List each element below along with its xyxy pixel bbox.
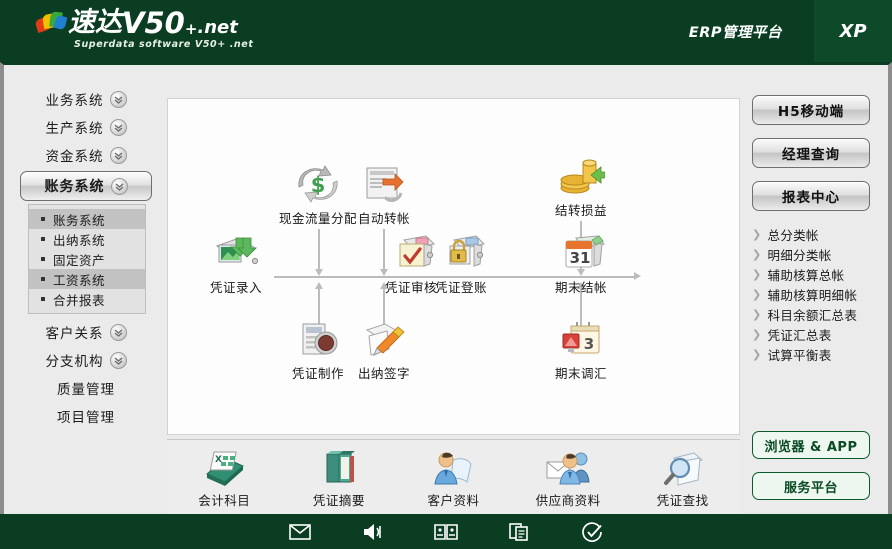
report-link-label: 辅助核算明细帐: [768, 285, 858, 304]
chevron-down-icon: [110, 119, 127, 136]
workflow-node-label: 期末结帐: [533, 277, 629, 296]
voucher-search-icon: [633, 446, 733, 488]
right-button-2[interactable]: 报表中心: [752, 181, 870, 211]
workflow-node-fx-adjust[interactable]: 3期末调汇: [533, 312, 629, 382]
green-button-group: 浏览器 & APP服务平台: [752, 418, 874, 500]
customer-data-icon: [403, 446, 503, 488]
chevron-right-icon: ❯: [752, 228, 762, 241]
workflow-node-label: 凭证登账: [413, 277, 509, 296]
report-link-1[interactable]: ❯明细分类帐: [752, 244, 874, 264]
mail-icon[interactable]: [288, 522, 312, 542]
logo-leaf-icon: [36, 10, 66, 34]
chevron-down-icon: [110, 324, 127, 341]
flow-arrowhead-down-1: [315, 269, 323, 276]
toolbar-item-label: 供应商资料: [518, 490, 618, 509]
toolbar-item-voucher-search[interactable]: 凭证查找: [633, 446, 733, 509]
chevron-right-icon: ❯: [752, 348, 762, 361]
report-link-label: 试算平衡表: [768, 345, 832, 364]
workflow-node-voucher-post[interactable]: 凭证登账: [413, 226, 509, 296]
sidebar-subitem-0[interactable]: 账务系统: [29, 209, 145, 229]
copy-icon[interactable]: [507, 522, 531, 542]
logo-version: V50: [122, 8, 185, 38]
sidebar-item-label: 生产系统: [46, 117, 104, 137]
toolbar-item-label: 会计科目: [174, 490, 274, 509]
bullet-icon: [41, 277, 45, 281]
sidebar-item-label: 项目管理: [57, 406, 115, 426]
xp-label: XP: [814, 21, 892, 42]
workflow-panel: $现金流量分配自动转帐结转损益凭证录入凭证审核凭证登账31期末结帐凭证制作出纳签…: [167, 98, 740, 435]
workflow-node-auto-transfer[interactable]: 自动转帐: [336, 157, 432, 227]
sidebar-item-1[interactable]: 生产系统: [20, 113, 152, 141]
report-link-5[interactable]: ❯凭证汇总表: [752, 324, 874, 344]
workflow-node-label: 自动转帐: [336, 208, 432, 227]
right-button-group: H5移动端经理查询报表中心: [752, 95, 874, 211]
voucher-post-icon: [413, 226, 509, 274]
sidebar-subitem-label: 工资系统: [53, 270, 105, 289]
report-link-0[interactable]: ❯总分类帐: [752, 224, 874, 244]
flow-arrowhead-right: [634, 272, 641, 280]
workflow-node-cashier-sign[interactable]: 出纳签字: [336, 312, 432, 382]
green-button-0[interactable]: 浏览器 & APP: [752, 431, 870, 459]
svg-text:$: $: [311, 173, 326, 197]
workflow-node-label: 出纳签字: [336, 363, 432, 382]
logo-brand-cn: 速达: [68, 8, 122, 38]
sidebar-subitem-1[interactable]: 出纳系统: [29, 229, 145, 249]
sidebar-item-label: 分支机构: [46, 350, 104, 370]
speaker-icon[interactable]: [361, 522, 385, 542]
chevron-down-icon: [110, 352, 127, 369]
sidebar-item-2[interactable]: 资金系统: [20, 141, 152, 169]
report-link-label: 明细分类帐: [768, 245, 832, 264]
sidebar-item-label: 资金系统: [46, 145, 104, 165]
workflow-diagram: $现金流量分配自动转帐结转损益凭证录入凭证审核凭证登账31期末结帐凭证制作出纳签…: [168, 99, 739, 434]
workflow-node-voucher-entry[interactable]: 凭证录入: [188, 226, 284, 296]
sidebar-item-label: 账务系统: [45, 176, 105, 196]
chevron-right-icon: ❯: [752, 308, 762, 321]
svg-text:X: X: [215, 455, 222, 465]
fx-adjust-icon: 3: [533, 312, 629, 360]
cashier-sign-icon: [336, 312, 432, 360]
toolbar-item-label: 凭证查找: [633, 490, 733, 509]
shortcut-toolbar: X会计科目凭证摘要客户资料供应商资料凭证查找: [167, 439, 740, 515]
toolbar-item-accounting-subject[interactable]: X会计科目: [174, 446, 274, 509]
workflow-node-label: 结转损益: [533, 200, 629, 219]
chevron-down-icon: [110, 147, 127, 164]
voucher-entry-icon: [188, 226, 284, 274]
green-button-1[interactable]: 服务平台: [752, 472, 870, 500]
toolbar-item-voucher-summary[interactable]: 凭证摘要: [289, 446, 389, 509]
sidebar-submenu: 账务系统出纳系统固定资产工资系统合并报表: [28, 204, 146, 314]
report-link-label: 辅助核算总帐: [768, 265, 845, 284]
app-header: 速达 V50 + .net Superdata software V50+ .n…: [0, 0, 892, 62]
logo-net: .net: [197, 17, 237, 38]
sidebar-nav: 业务系统生产系统资金系统账务系统账务系统出纳系统固定资产工资系统合并报表客户关系…: [20, 85, 152, 430]
right-button-0[interactable]: H5移动端: [752, 95, 870, 125]
report-link-list: ❯总分类帐❯明细分类帐❯辅助核算总帐❯辅助核算明细帐❯科目余额汇总表❯凭证汇总表…: [752, 224, 874, 364]
chevron-down-icon: [110, 91, 127, 108]
status-bar: [0, 514, 892, 549]
sidebar-item-4[interactable]: 客户关系: [20, 318, 152, 346]
body-area: 业务系统生产系统资金系统账务系统账务系统出纳系统固定资产工资系统合并报表客户关系…: [0, 62, 892, 514]
chevron-right-icon: ❯: [752, 268, 762, 281]
sidebar-item-6[interactable]: 质量管理: [20, 374, 152, 402]
chevron-right-icon: ❯: [752, 248, 762, 261]
report-link-label: 总分类帐: [768, 225, 819, 244]
sidebar-subitem-label: 固定资产: [53, 250, 105, 269]
book-icon[interactable]: [434, 522, 458, 542]
sidebar-subitem-label: 合并报表: [53, 290, 105, 309]
report-link-3[interactable]: ❯辅助核算明细帐: [752, 284, 874, 304]
right-panel: H5移动端经理查询报表中心 ❯总分类帐❯明细分类帐❯辅助核算总帐❯辅助核算明细帐…: [752, 95, 874, 364]
sidebar-item-label: 质量管理: [57, 378, 115, 398]
chevron-down-icon: [111, 178, 128, 195]
report-link-6[interactable]: ❯试算平衡表: [752, 344, 874, 364]
report-link-2[interactable]: ❯辅助核算总帐: [752, 264, 874, 284]
sidebar-item-0[interactable]: 业务系统: [20, 85, 152, 113]
sidebar-item-label: 业务系统: [46, 89, 104, 109]
accounting-subject-icon: X: [174, 446, 274, 488]
workflow-node-coins-profit[interactable]: 结转损益: [533, 149, 629, 219]
bullet-icon: [41, 297, 45, 301]
right-button-1[interactable]: 经理查询: [752, 138, 870, 168]
workflow-node-label: 凭证录入: [188, 277, 284, 296]
bullet-icon: [41, 237, 45, 241]
svg-text:3: 3: [584, 335, 594, 353]
bullet-icon: [41, 217, 45, 221]
sidebar-subitem-3[interactable]: 工资系统: [29, 269, 145, 289]
sidebar-subitem-4[interactable]: 合并报表: [29, 289, 145, 309]
toolbar-item-label: 客户资料: [403, 490, 503, 509]
workflow-node-period-close[interactable]: 31期末结帐: [533, 226, 629, 296]
sidebar-item-3[interactable]: 账务系统: [20, 171, 152, 201]
sidebar-subitem-label: 出纳系统: [53, 230, 105, 249]
sidebar-item-7[interactable]: 项目管理: [20, 402, 152, 430]
check-circle-icon[interactable]: [580, 522, 604, 542]
coins-profit-icon: [533, 149, 629, 197]
toolbar-item-label: 凭证摘要: [289, 490, 389, 509]
bullet-icon: [41, 257, 45, 261]
workflow-node-label: 期末调汇: [533, 363, 629, 382]
chevron-right-icon: ❯: [752, 288, 762, 301]
sidebar-item-5[interactable]: 分支机构: [20, 346, 152, 374]
supplier-data-icon: [518, 446, 618, 488]
svg-text:31: 31: [570, 249, 591, 267]
logo-plus: +: [185, 20, 198, 38]
logo-subtitle: Superdata software V50+ .net: [74, 39, 253, 50]
toolbar-item-customer-data[interactable]: 客户资料: [403, 446, 503, 509]
erp-platform-label: ERP管理平台: [689, 21, 782, 42]
report-link-label: 凭证汇总表: [768, 325, 832, 344]
chevron-right-icon: ❯: [752, 328, 762, 341]
auto-transfer-icon: [336, 157, 432, 205]
period-close-icon: 31: [533, 226, 629, 274]
flow-down-line-1: [318, 229, 320, 269]
report-link-label: 科目余额汇总表: [768, 305, 858, 324]
xp-badge[interactable]: XP: [814, 0, 892, 62]
report-link-4[interactable]: ❯科目余额汇总表: [752, 304, 874, 324]
application-window: 速达 V50 + .net Superdata software V50+ .n…: [0, 0, 892, 549]
app-logo: 速达 V50 + .net Superdata software V50+ .n…: [36, 8, 253, 50]
sidebar-subitem-2[interactable]: 固定资产: [29, 249, 145, 269]
flow-arrowhead-up-1: [315, 282, 323, 289]
voucher-summary-icon: [289, 446, 389, 488]
sidebar-item-label: 客户关系: [46, 322, 104, 342]
sidebar-subitem-label: 账务系统: [53, 210, 105, 229]
toolbar-item-supplier-data[interactable]: 供应商资料: [518, 446, 618, 509]
